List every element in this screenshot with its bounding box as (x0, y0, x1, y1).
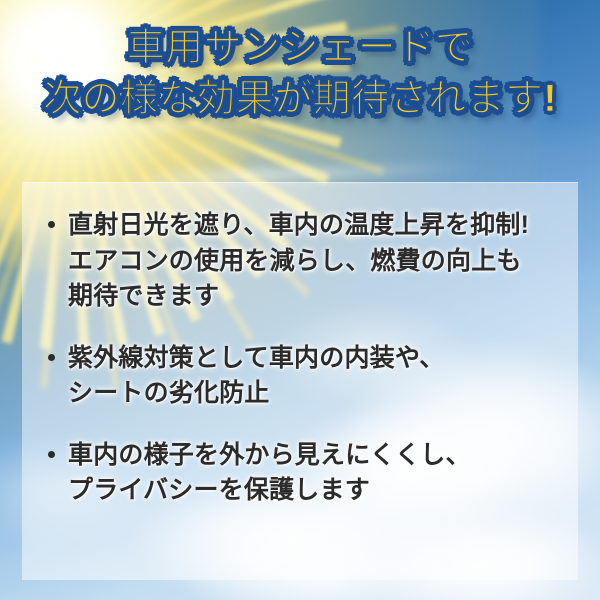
benefit-line: 直射日光を遮り、車内の温度上昇を抑制! (68, 208, 552, 244)
bullet-dot-icon (48, 451, 68, 458)
benefit-line: シートの劣化防止 (68, 376, 552, 412)
benefit-line: 期待できます (68, 279, 552, 315)
benefit-line: エアコンの使用を減らし、燃費の向上も (68, 244, 552, 280)
benefits-list: 直射日光を遮り、車内の温度上昇を抑制! エアコンの使用を減らし、燃費の向上も 期… (48, 208, 552, 509)
sunshade-benefits-banner: 車用サンシェードで 次の様な効果が期待されます! 直射日光を遮り、車内の温度上昇… (0, 0, 600, 600)
bullet-dot-icon (48, 221, 68, 228)
list-item: 直射日光を遮り、車内の温度上昇を抑制! エアコンの使用を減らし、燃費の向上も 期… (48, 208, 552, 315)
benefit-text: 直射日光を遮り、車内の温度上昇を抑制! エアコンの使用を減らし、燃費の向上も 期… (68, 208, 552, 315)
list-item: 車内の様子を外から見えにくくし、 プライバシーを保護します (48, 438, 552, 509)
bullet-dot-icon (48, 354, 68, 361)
headline: 車用サンシェードで 次の様な効果が期待されます! (0, 26, 600, 122)
headline-line-1: 車用サンシェードで (0, 26, 600, 71)
list-item: 紫外線対策として車内の内装や、 シートの劣化防止 (48, 341, 552, 412)
benefit-text: 紫外線対策として車内の内装や、 シートの劣化防止 (68, 341, 552, 412)
benefit-line: 車内の様子を外から見えにくくし、 (68, 438, 552, 474)
benefit-line: 紫外線対策として車内の内装や、 (68, 341, 552, 377)
benefit-text: 車内の様子を外から見えにくくし、 プライバシーを保護します (68, 438, 552, 509)
benefits-panel: 直射日光を遮り、車内の温度上昇を抑制! エアコンの使用を減らし、燃費の向上も 期… (22, 182, 578, 580)
headline-line-2: 次の様な効果が期待されます! (0, 77, 600, 122)
benefit-line: プライバシーを保護します (68, 473, 552, 509)
